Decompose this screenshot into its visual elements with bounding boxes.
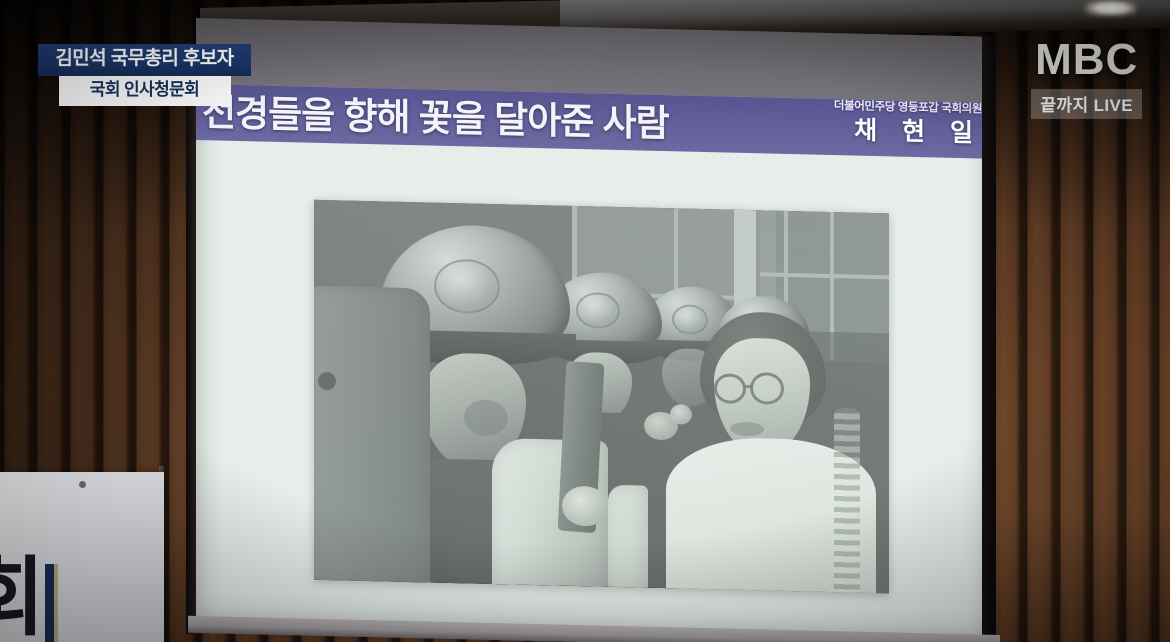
photo-glasses-icon	[750, 372, 784, 405]
slide-title: 전경들을 향해 꽃을 달아준 사람	[202, 84, 669, 147]
photo-shield-mark	[318, 372, 336, 390]
photo-glasses-bridge	[745, 385, 752, 388]
chyron: 김민석 국무총리 후보자 국회 인사청문회	[38, 44, 251, 106]
live-badge: 끝까지 LIVE	[1031, 89, 1142, 119]
photo-helmet-visor	[576, 292, 620, 329]
photo-helmet-visor	[434, 259, 500, 315]
banner-character: 회	[0, 555, 43, 641]
projection-screen: 전경들을 향해 꽃을 달아준 사람 더불어민주당 영등포갑 국회의원 채 현 일	[196, 18, 990, 641]
banner-pin-icon	[79, 481, 86, 488]
banner-stripe-gold	[54, 564, 58, 642]
speaker-name: 채 현 일	[834, 118, 982, 146]
photo-face-shadow	[464, 399, 508, 436]
floor-banner: 회	[0, 472, 164, 642]
network-branding: MBC 끝까지 LIVE	[1031, 38, 1142, 119]
photo-hand	[670, 404, 692, 425]
slide-photo	[314, 200, 889, 594]
photo-hand	[562, 486, 608, 527]
banner-stripe-navy	[45, 564, 54, 642]
photo-helmet-visor	[672, 304, 708, 335]
chyron-subline: 국회 인사청문회	[59, 76, 231, 106]
presentation-slide: 전경들을 향해 꽃을 달아준 사람 더불어민주당 영등포갑 국회의원 채 현 일	[196, 84, 990, 641]
mbc-logo: MBC	[1031, 38, 1142, 82]
photo-glasses-icon	[714, 373, 746, 404]
speaker-identification: 더불어민주당 영등포갑 국회의원 채 현 일	[834, 101, 982, 146]
ceiling-light-icon	[1085, 0, 1137, 16]
screen-right-edge	[982, 37, 996, 642]
photo-riot-shield	[608, 485, 648, 592]
chyron-headline: 김민석 국무총리 후보자	[38, 44, 251, 76]
photo-woman-strap	[834, 408, 860, 593]
photo-riot-shield	[314, 286, 430, 589]
speaker-affiliation: 더불어민주당 영등포갑 국회의원	[834, 101, 982, 116]
broadcast-frame: 전경들을 향해 꽃을 달아준 사람 더불어민주당 영등포갑 국회의원 채 현 일	[0, 0, 1170, 642]
